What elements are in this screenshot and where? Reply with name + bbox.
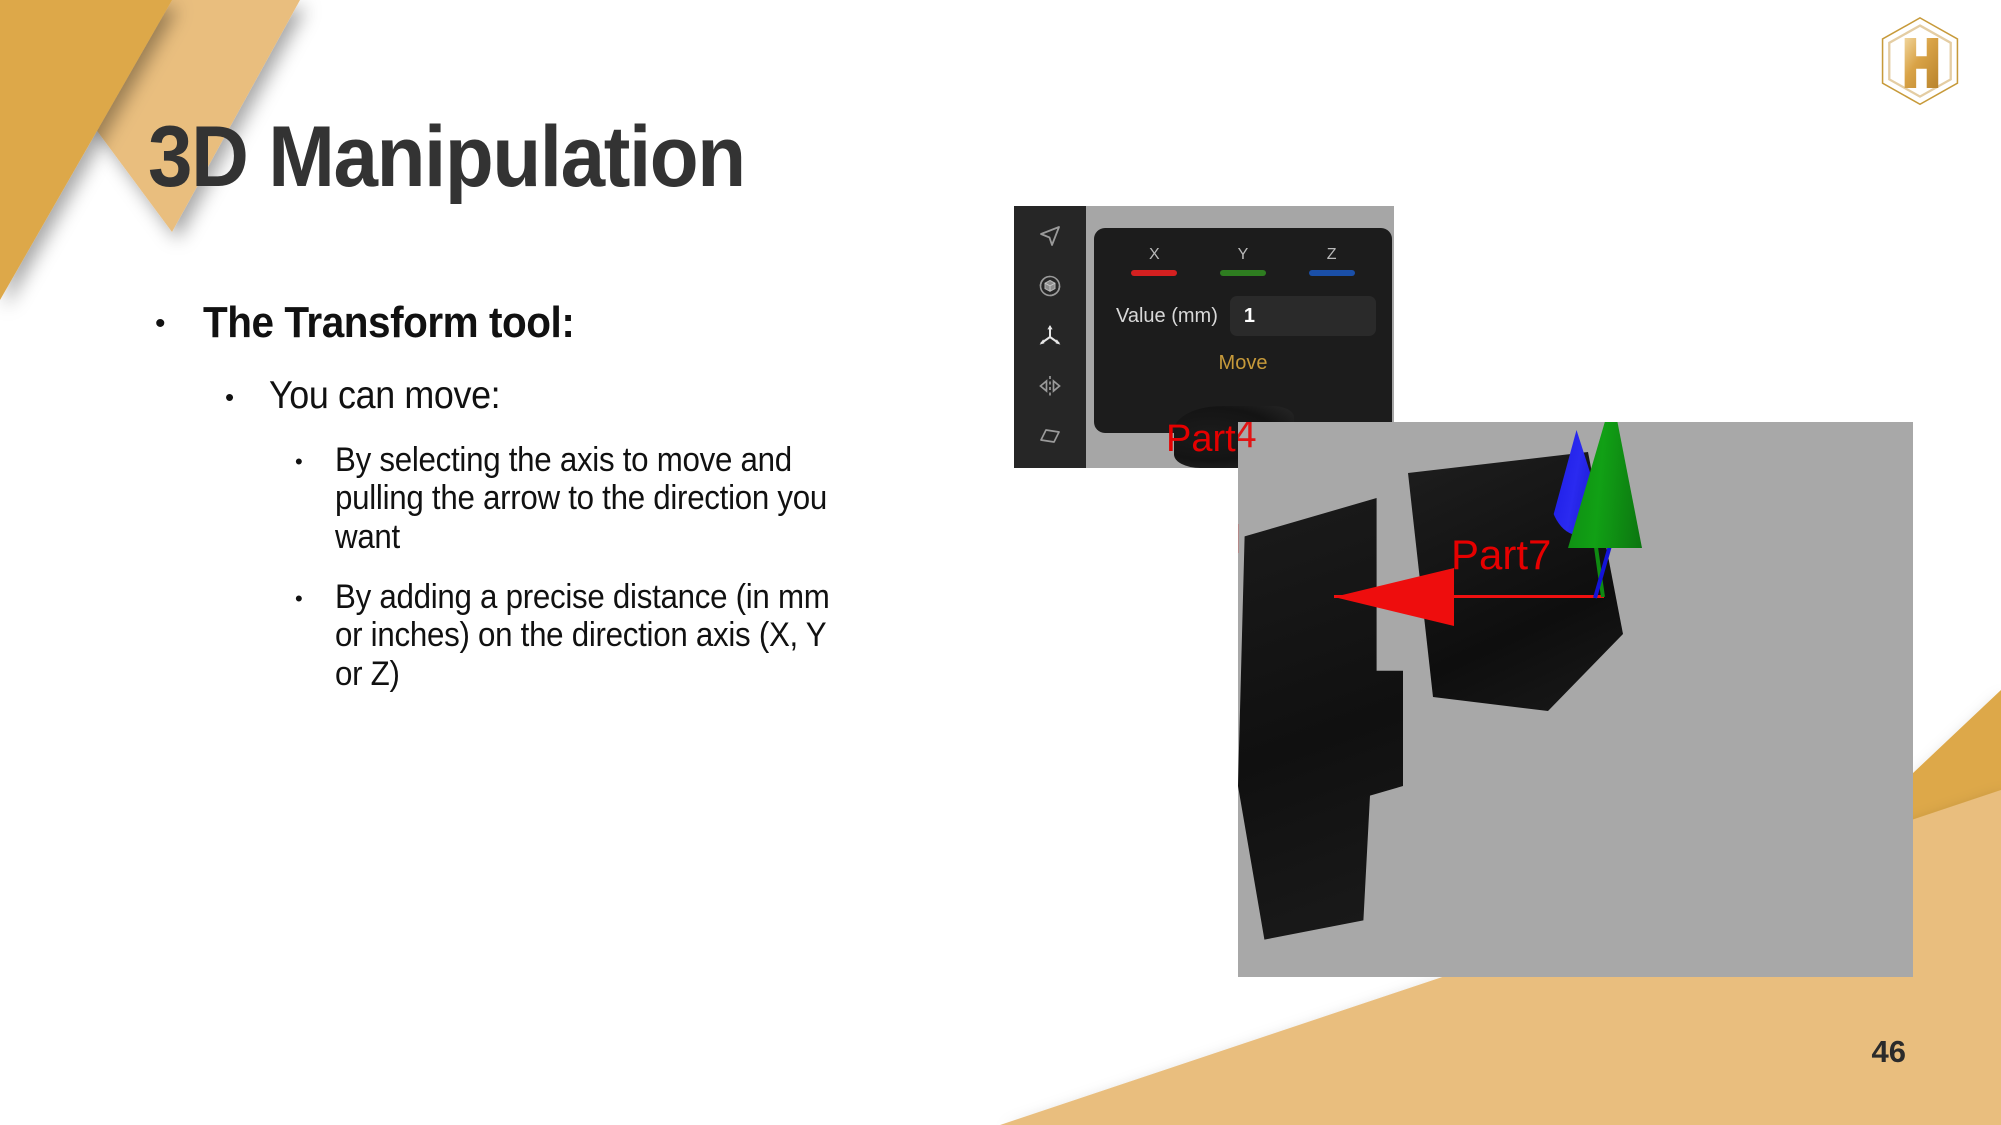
axis-tab-group: X Y Z [1110,246,1376,276]
axis-tab-z-label: Z [1327,246,1337,264]
slide-canvas: 3D Manipulation • The Transform tool: • … [0,0,2001,1125]
value-input[interactable]: 1 [1230,296,1376,336]
bullet-level2: • You can move: [225,372,985,421]
bullet-dot-icon: • [225,372,269,410]
page-number: 46 [1872,1034,1906,1070]
axis-tab-x-label: X [1149,246,1160,264]
page-title: 3D Manipulation [148,108,745,207]
cursor-select-icon[interactable] [1028,218,1072,254]
bullet-level3-a: • By selecting the axis to move and pull… [295,441,985,556]
axis-tab-y-underline [1220,270,1266,276]
axis-tab-z[interactable]: Z [1301,246,1363,276]
body-content: • The Transform tool: • You can move: • … [155,295,985,715]
axis-tab-z-underline [1309,270,1355,276]
viewport-screenshot: rt4 l Part7 [1238,422,1913,977]
part4-label: rt4 [1238,422,1257,457]
value-row: Value (mm) 1 [1110,296,1376,336]
orbit-cube-icon[interactable] [1028,268,1072,304]
bullet-level1-text: The Transform tool: [203,295,574,350]
axis-tab-x-underline [1131,270,1177,276]
part-label: Part [1166,418,1236,461]
bullet-level1: • The Transform tool: [155,295,985,350]
axis-tab-y[interactable]: Y [1212,246,1274,276]
move-button[interactable]: Move [1110,352,1376,375]
transform-panel: X Y Z Value (mm) 1 Move [1094,228,1392,433]
mirror-icon[interactable] [1028,368,1072,404]
axis-tab-y-label: Y [1238,246,1249,264]
hexagon-h-logo [1872,13,1968,113]
bullet-level3-b: • By adding a precise distance (in mm or… [295,578,985,693]
value-label: Value (mm) [1116,305,1218,328]
plane-icon[interactable] [1028,418,1072,454]
bullet-level3-a-text: By selecting the axis to move and pullin… [335,441,850,556]
axis-tab-x[interactable]: X [1123,246,1185,276]
part7-label: Part7 [1451,531,1551,579]
bullet-level2-text: You can move: [269,372,500,421]
partial-label: l [1238,518,1241,563]
transform-toolbar [1014,206,1086,468]
corner-top-left-dark [0,0,172,300]
bullet-dot-icon: • [295,441,335,473]
move-gizmo-icon[interactable] [1028,318,1072,354]
bullet-dot-icon: • [295,578,335,610]
bullet-dot-icon: • [155,295,203,339]
bullet-level3-b-text: By adding a precise distance (in mm or i… [335,578,850,693]
